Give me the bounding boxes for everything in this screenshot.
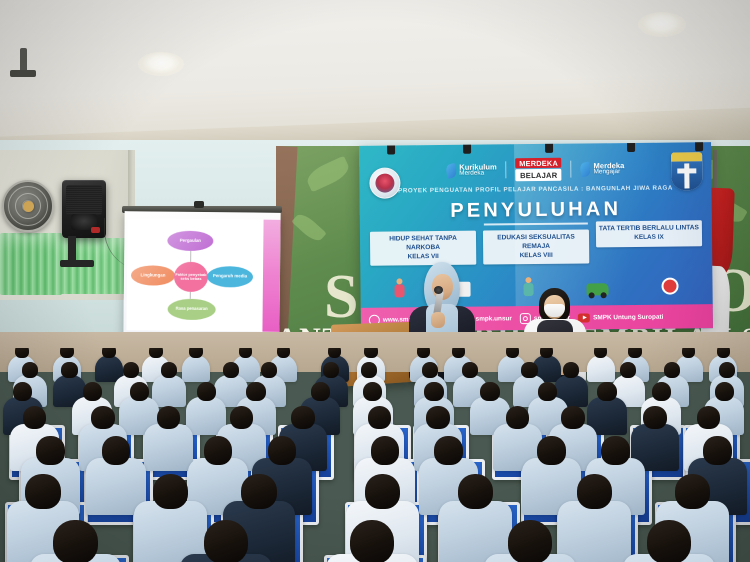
logo-kurikulum-merdeka: Kurikulum Merdeka	[446, 163, 497, 178]
student-head	[675, 474, 710, 509]
student-head	[22, 362, 38, 378]
student-head	[157, 406, 180, 429]
student-head	[123, 362, 139, 378]
projector-screen: Pergaulan Lingkungan Faktor penyebab sek…	[123, 211, 280, 341]
banner-clip	[627, 142, 635, 152]
speaker-bracket	[60, 260, 94, 267]
student-head	[13, 382, 32, 401]
student-head	[230, 406, 253, 429]
student-head	[83, 382, 102, 401]
student-head	[268, 436, 297, 465]
student-uniform	[144, 424, 193, 471]
student-head	[61, 362, 77, 378]
student-uniform	[134, 501, 207, 562]
photo-scene: SM JO ANTO S GABRIEL SEMBILAN SIDOARJO P…	[0, 0, 750, 562]
student-head	[371, 436, 400, 465]
student-head	[311, 382, 330, 401]
banner-clip	[545, 142, 553, 153]
ceiling-downlight	[638, 12, 686, 37]
student-head	[15, 348, 29, 358]
student-head	[458, 474, 493, 509]
student-head	[277, 348, 291, 358]
student-head	[204, 436, 233, 465]
student-head	[697, 406, 720, 429]
student-head	[161, 362, 177, 378]
student-head	[620, 362, 636, 378]
student-head	[715, 382, 734, 401]
student-head	[717, 348, 731, 358]
topic-kelas: KELAS IX	[598, 233, 700, 243]
student-head	[60, 348, 74, 358]
student-uniform	[558, 501, 631, 562]
student-head	[597, 382, 616, 401]
footer-label: SMPK Untung Suropati	[593, 313, 663, 321]
student-head	[422, 362, 438, 378]
leaf-motif	[291, 211, 326, 245]
wall-fan-icon	[2, 180, 54, 232]
student-head	[434, 436, 463, 465]
student-head	[601, 436, 630, 465]
pa-speaker-icon	[62, 180, 106, 238]
student-head	[540, 348, 554, 358]
student-head	[719, 362, 735, 378]
topic-title: EDUKASI SEKSUALITAS REMAJA	[497, 234, 575, 250]
student-head	[323, 362, 339, 378]
student-head	[102, 348, 116, 358]
student-head	[462, 362, 478, 378]
student-head	[563, 362, 579, 378]
logo-divider	[506, 162, 507, 179]
student-head	[328, 348, 342, 358]
banner-clip	[695, 142, 703, 151]
student-head	[364, 348, 378, 358]
banner-logo-row: Kurikulum Merdeka MERDEKA BELAJAR Merdek…	[359, 156, 711, 183]
student-head	[424, 382, 443, 401]
logo-line2: Mengajar	[594, 169, 625, 176]
student-head	[197, 382, 216, 401]
student-head	[452, 348, 466, 358]
student-head	[246, 382, 265, 401]
student-head	[23, 406, 46, 429]
topic-title: TATA TERTIB BERLALU LINTAS	[599, 224, 699, 232]
footer-label: smpk.unsur	[476, 315, 512, 322]
logo-line2: Merdeka	[459, 171, 497, 178]
student-head	[480, 382, 499, 401]
student-head	[521, 362, 537, 378]
mengajar-swoosh-icon	[579, 161, 592, 177]
student-head	[506, 406, 529, 429]
student-head	[91, 406, 114, 429]
student-head	[261, 362, 277, 378]
student-head	[25, 474, 60, 509]
logo-divider	[570, 161, 571, 178]
student-head	[239, 348, 253, 358]
student-head	[130, 382, 149, 401]
logo-merdeka-belajar: MERDEKA BELAJAR	[516, 158, 562, 182]
student-head	[363, 382, 382, 401]
student-head	[36, 436, 65, 465]
student-head	[664, 362, 680, 378]
student-head	[561, 406, 584, 429]
student-head	[537, 436, 566, 465]
student-uniform	[439, 501, 512, 562]
green-curtain	[0, 233, 62, 295]
kurikulum-swoosh-icon	[445, 163, 458, 179]
topic-card: EDUKASI SEKSUALITAS REMAJA KELAS VIII	[483, 229, 589, 265]
speaker-hand	[431, 312, 445, 328]
student-head	[417, 348, 431, 358]
illustration-car-icon	[586, 283, 608, 295]
logo-line1: MERDEKA	[519, 159, 558, 167]
student-head	[647, 520, 691, 562]
student-head	[643, 406, 666, 429]
topic-card: TATA TERTIB BERLALU LINTAS KELAS IX	[596, 220, 702, 247]
student-uniform	[587, 355, 615, 382]
topic-kelas: KELAS VIII	[485, 251, 587, 261]
student-head	[703, 436, 732, 465]
student-head	[350, 520, 394, 562]
student-head	[682, 348, 696, 358]
student-head	[53, 520, 97, 562]
student-uniform	[182, 355, 210, 382]
student-uniform	[152, 375, 185, 407]
banner-clip	[463, 142, 471, 154]
student-head	[365, 474, 400, 509]
illustration-sign-icon	[661, 278, 678, 295]
logo-line2: BELAJAR	[519, 171, 558, 180]
student-head	[628, 348, 642, 358]
student-head	[189, 348, 203, 358]
student-head	[361, 362, 377, 378]
topic-kelas: KELAS VII	[372, 252, 474, 262]
student-head	[577, 474, 612, 509]
logo-merdeka-mengajar: Merdeka Mengajar	[580, 162, 624, 176]
student-head	[102, 436, 131, 465]
ceiling	[0, 0, 750, 150]
student-head	[241, 474, 276, 509]
student-head	[223, 362, 239, 378]
topic-title: HIDUP SEHAT TANPA NARKOBA	[389, 235, 457, 251]
student-head	[426, 406, 449, 429]
leaf-motif	[304, 156, 352, 193]
student-head	[153, 474, 188, 509]
microphone-head-icon	[434, 286, 443, 294]
student-head	[594, 348, 608, 358]
student-audience	[0, 348, 750, 562]
student-head	[538, 382, 557, 401]
fan-base	[10, 70, 36, 77]
student-head	[368, 406, 391, 429]
ceiling-downlight	[138, 52, 184, 76]
student-head	[506, 348, 520, 358]
ceiling-downlight	[620, 124, 646, 137]
student-head	[149, 348, 163, 358]
student-head	[204, 520, 248, 562]
topic-card: HIDUP SEHAT TANPA NARKOBA KELAS VII	[370, 231, 476, 267]
student-head	[291, 406, 314, 429]
student-head	[652, 382, 671, 401]
student-head	[508, 520, 552, 562]
